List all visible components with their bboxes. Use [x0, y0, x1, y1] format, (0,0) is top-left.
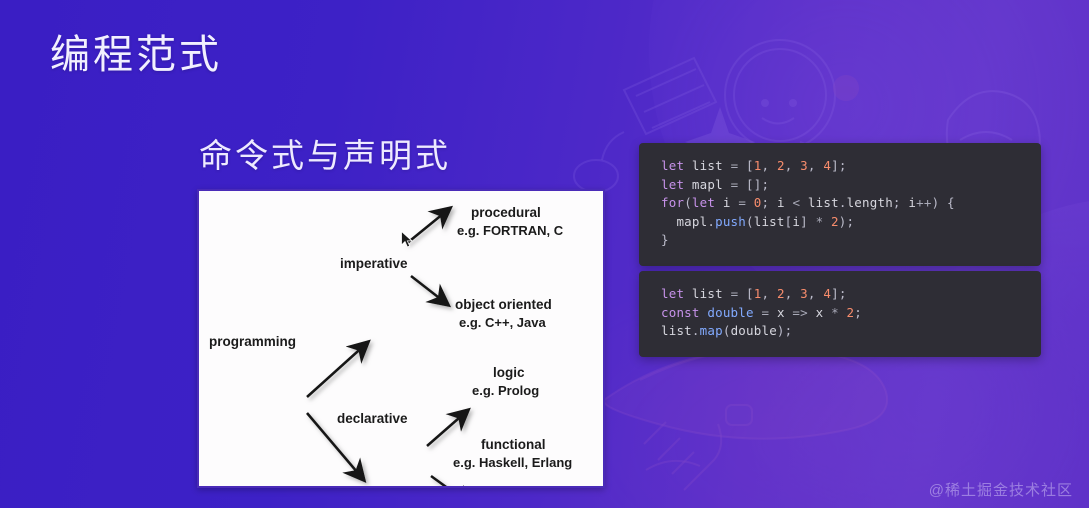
background-glow-bottom-right	[729, 228, 1089, 508]
slide-root: 编程范式 命令式与声明式 programmin	[0, 0, 1089, 508]
imperative-code-sample: let list = [1, 2, 3, 4]; let mapl = []; …	[639, 143, 1041, 266]
node-imperative: imperative	[340, 256, 408, 271]
arrow-programming-imperative	[307, 343, 367, 397]
node-procedural-example: e.g. FORTRAN, C	[457, 223, 564, 238]
node-declarative: declarative	[337, 411, 408, 426]
arrow-imperative-oo	[411, 276, 447, 304]
node-functional-example: e.g. Haskell, Erlang	[453, 455, 572, 470]
node-logic-example: e.g. Prolog	[472, 383, 539, 398]
page-subtitle: 命令式与声明式	[199, 129, 451, 177]
arrow-declarative-logic	[427, 411, 467, 446]
page-title: 编程范式	[50, 28, 222, 82]
watermark: @稀土掘金技术社区	[929, 479, 1073, 500]
arrow-declarative-functional	[431, 476, 471, 486]
node-functional: functional	[481, 437, 546, 452]
node-logic: logic	[493, 365, 525, 380]
node-object-oriented: object oriented	[455, 297, 552, 312]
node-programming: programming	[209, 334, 296, 349]
node-object-oriented-example: e.g. C++, Java	[459, 315, 546, 330]
paradigm-diagram: programming imperative declarative proce…	[199, 191, 603, 486]
paradigm-diagram-panel: programming imperative declarative proce…	[197, 189, 605, 488]
declarative-code-sample: let list = [1, 2, 3, 4]; const double = …	[639, 271, 1041, 357]
arrow-imperative-procedural	[406, 209, 449, 244]
node-procedural: procedural	[471, 205, 541, 220]
